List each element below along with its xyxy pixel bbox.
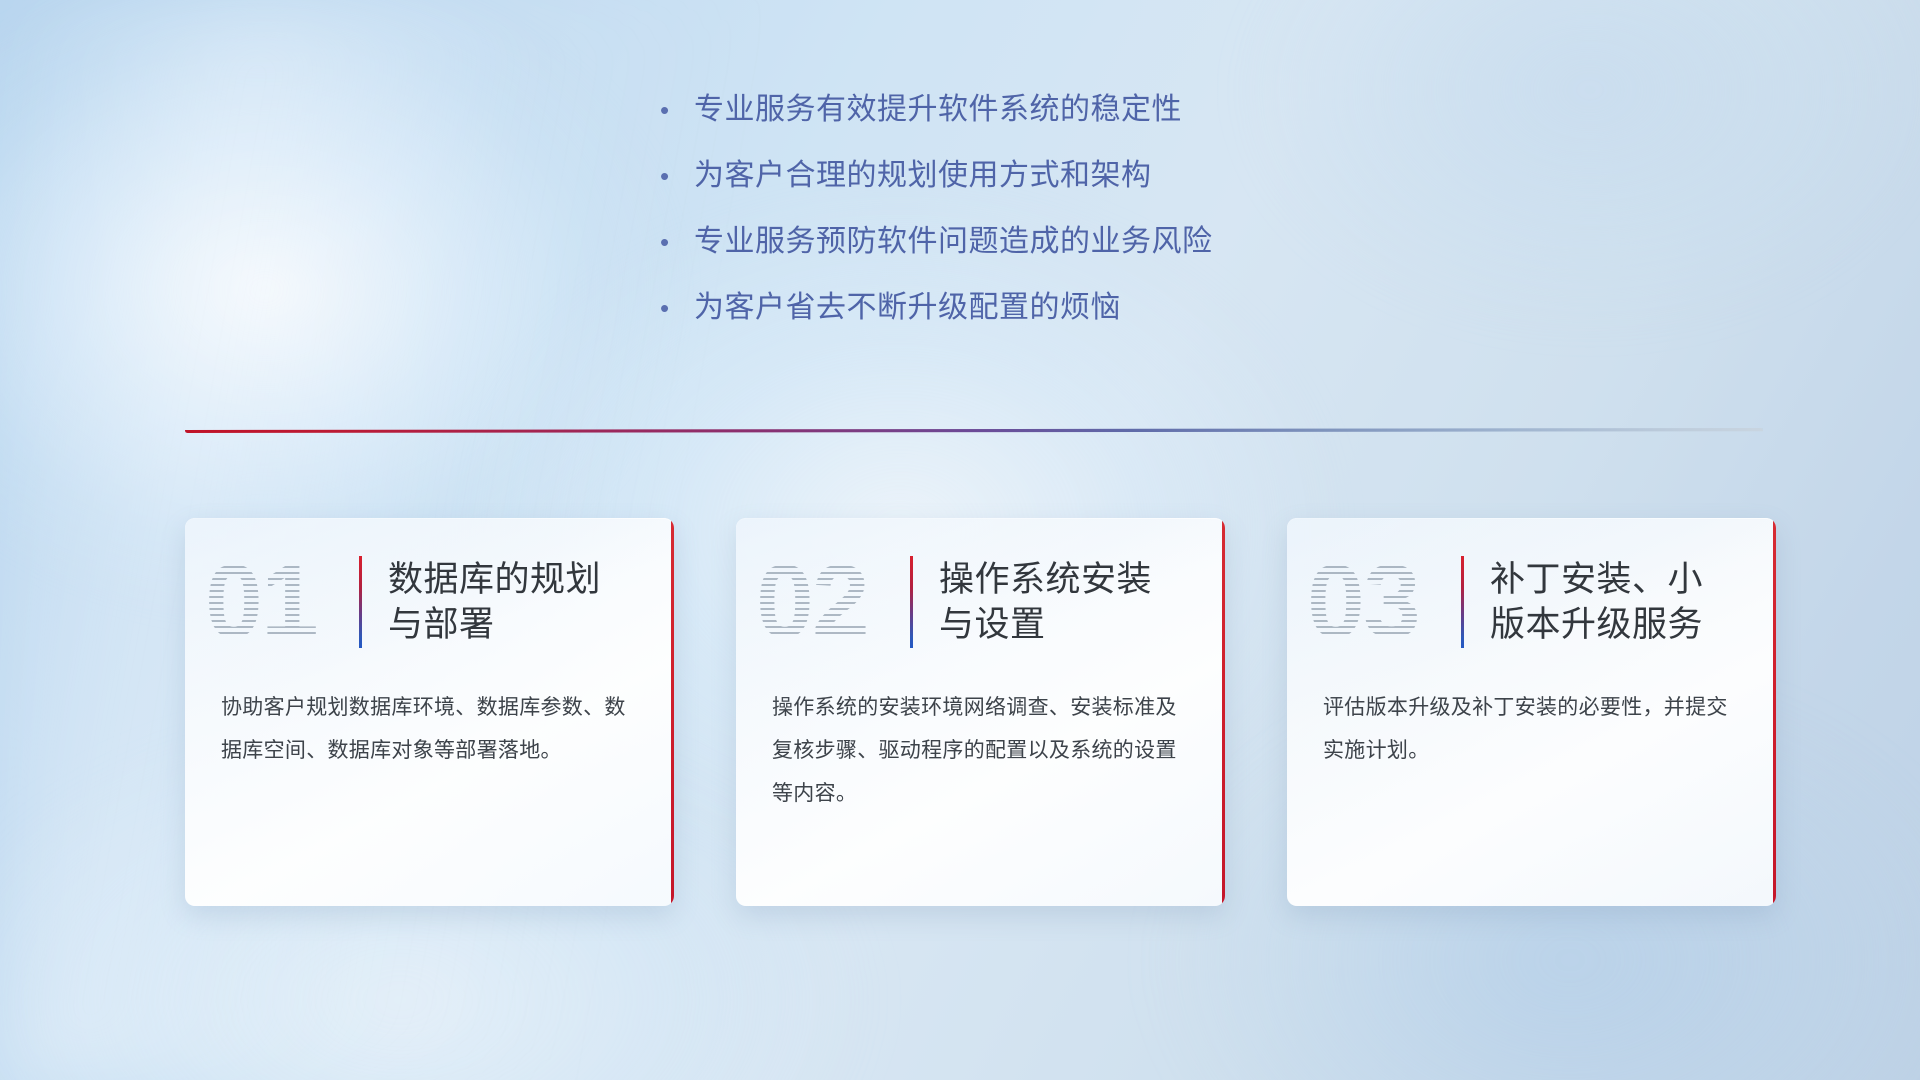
card-title-line: 与设置	[939, 602, 1152, 648]
card-title: 数据库的规划 与部署	[388, 557, 601, 648]
bullet-dot-icon: •	[660, 229, 694, 255]
title-accent-bar	[1461, 556, 1464, 648]
card-title-line: 与部署	[388, 602, 601, 648]
bullet-dot-icon: •	[660, 295, 694, 321]
list-item: • 为客户省去不断升级配置的烦恼	[660, 290, 1560, 326]
title-accent-bar	[359, 556, 362, 648]
card-number-watermark: 01	[205, 542, 355, 662]
benefits-bullet-list: • 专业服务有效提升软件系统的稳定性 • 为客户合理的规划使用方式和架构 • 专…	[660, 92, 1560, 356]
card-description: 评估版本升级及补丁安装的必要性，并提交实施计划。	[1287, 686, 1776, 772]
card-title-line: 版本升级服务	[1490, 602, 1703, 648]
card-title: 操作系统安装 与设置	[939, 557, 1152, 648]
divider-line	[185, 428, 1763, 433]
card-header: 03 补丁安装、小 版本升级服务	[1287, 518, 1776, 686]
service-card-list: 01 数据库的规划 与部署 协助客户规划数据库环境、数据库参数、数据库空间、数据…	[185, 518, 1776, 906]
bullet-label: 专业服务有效提升软件系统的稳定性	[694, 92, 1182, 128]
list-item: • 为客户合理的规划使用方式和架构	[660, 158, 1560, 194]
list-item: • 专业服务有效提升软件系统的稳定性	[660, 92, 1560, 128]
service-card[interactable]: 01 数据库的规划 与部署 协助客户规划数据库环境、数据库参数、数据库空间、数据…	[185, 518, 674, 906]
card-title: 补丁安装、小 版本升级服务	[1490, 557, 1703, 648]
bullet-label: 为客户合理的规划使用方式和架构	[694, 158, 1152, 194]
card-title-line: 补丁安装、小	[1490, 557, 1703, 603]
title-accent-bar	[910, 556, 913, 648]
card-description: 操作系统的安装环境网络调查、安装标准及复核步骤、驱动程序的配置以及系统的设置等内…	[736, 686, 1225, 815]
card-title-line: 操作系统安装	[939, 557, 1152, 603]
bullet-dot-icon: •	[660, 97, 694, 123]
card-description: 协助客户规划数据库环境、数据库参数、数据库空间、数据库对象等部署落地。	[185, 686, 674, 772]
card-number-watermark: 02	[756, 542, 906, 662]
list-item: • 专业服务预防软件问题造成的业务风险	[660, 224, 1560, 260]
section-divider	[185, 424, 1763, 440]
bullet-dot-icon: •	[660, 163, 694, 189]
bullet-label: 为客户省去不断升级配置的烦恼	[694, 290, 1121, 326]
card-header: 02 操作系统安装 与设置	[736, 518, 1225, 686]
service-card[interactable]: 03 补丁安装、小 版本升级服务 评估版本升级及补丁安装的必要性，并提交实施计划…	[1287, 518, 1776, 906]
card-title-line: 数据库的规划	[388, 557, 601, 603]
service-card[interactable]: 02 操作系统安装 与设置 操作系统的安装环境网络调查、安装标准及复核步骤、驱动…	[736, 518, 1225, 906]
card-number-watermark: 03	[1307, 542, 1457, 662]
card-header: 01 数据库的规划 与部署	[185, 518, 674, 686]
bullet-label: 专业服务预防软件问题造成的业务风险	[694, 224, 1213, 260]
